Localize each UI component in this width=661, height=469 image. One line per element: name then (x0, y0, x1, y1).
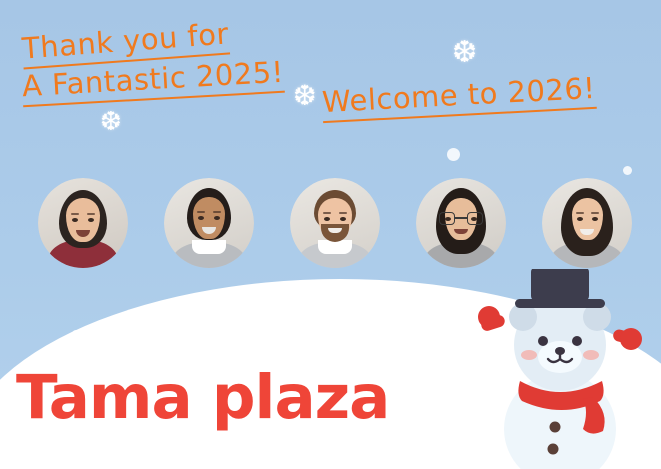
portrait-eye-right (88, 218, 94, 222)
portrait-eye-right (592, 217, 598, 221)
portrait-brow-left (197, 211, 205, 213)
snowman-hat (515, 269, 605, 308)
portrait-collar (318, 240, 352, 254)
portrait-person-3 (290, 178, 380, 268)
portrait-eye-left (324, 217, 330, 221)
snow-dot-4 (623, 166, 632, 175)
snowman-eye-left (538, 336, 548, 346)
snowman-blush-right (583, 350, 599, 360)
portrait-eye-right (471, 217, 477, 221)
portrait-eye-left (198, 216, 204, 220)
portrait-eye-right (340, 217, 346, 221)
snowman-eye-right (572, 336, 582, 346)
portrait-brow-left (323, 212, 331, 214)
portrait-brow-right (591, 212, 599, 214)
portrait-eye-left (445, 217, 451, 221)
page-title: Tama plaza (16, 362, 389, 433)
portrait-brow-right (87, 213, 95, 215)
portrait-collar (192, 240, 226, 254)
snowman-right-mitten (612, 328, 642, 350)
snowman-blush-left (521, 350, 537, 360)
snowman (465, 269, 655, 469)
portrait-brow-left (71, 213, 79, 215)
snowman-button-2 (548, 444, 559, 455)
snowman-left-mitten (478, 306, 506, 332)
holiday-greeting-card: Thank you for A Fantastic 2025! Welcome … (0, 0, 661, 469)
portrait-person-1 (38, 178, 128, 268)
portrait-brow-right (213, 211, 221, 213)
portrait-person-2 (164, 178, 254, 268)
portrait-brow-left (576, 212, 584, 214)
portrait-person-4 (416, 178, 506, 268)
snowman-nose (555, 347, 565, 355)
snowflake-2: ❆ (293, 82, 316, 110)
portrait-eye-right (214, 216, 220, 220)
snowman-button-1 (550, 422, 561, 433)
portrait-brow-right (339, 212, 347, 214)
portrait-eye-left (577, 217, 583, 221)
glasses-bridge (455, 217, 467, 219)
snowflake-3: ❆ (452, 38, 477, 68)
snow-dot-1 (447, 148, 460, 161)
portrait-eye-left (72, 218, 78, 222)
portrait-person-5 (542, 178, 632, 268)
snowflake-1: ❆ (100, 108, 122, 134)
